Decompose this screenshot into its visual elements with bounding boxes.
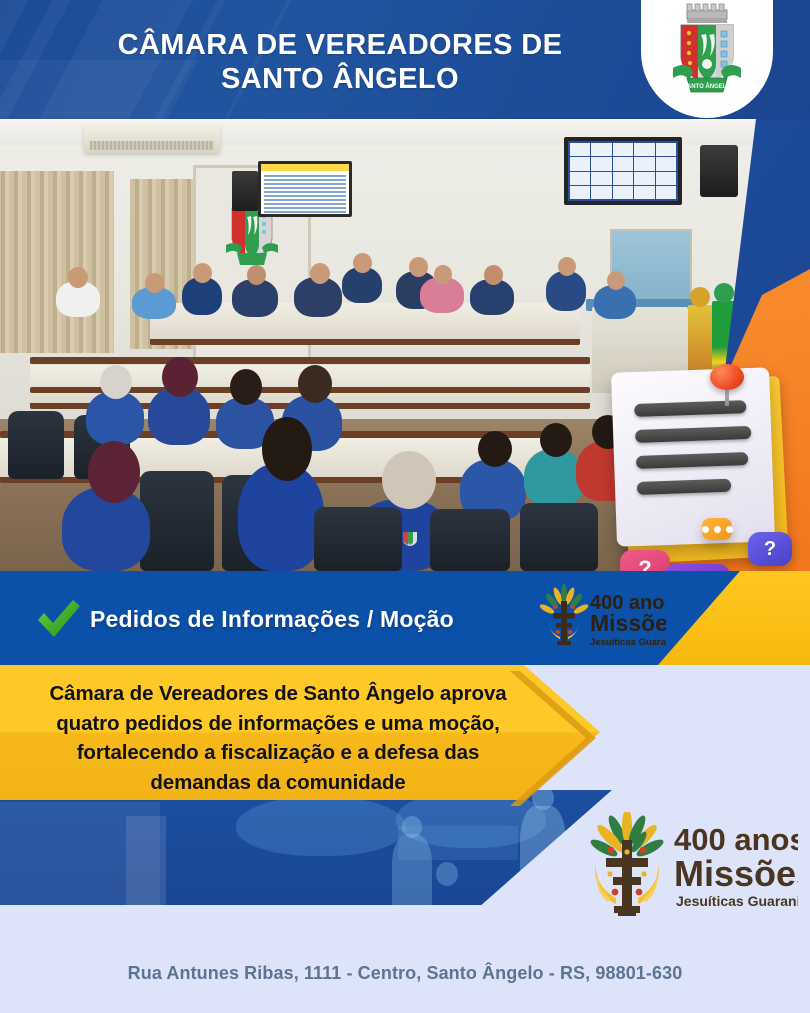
air-conditioner-icon (84, 125, 220, 153)
page-title-line-1: CÂMARA DE VEREADORES DE (60, 28, 620, 62)
footer-address: Rua Antunes Ribas, 1111 - Centro, Santo … (0, 963, 810, 984)
poster-footer (0, 905, 810, 1013)
missoes-line3: Jesuíticas Guaranis (590, 637, 666, 648)
headline-line-4: demandas da comunidade (22, 768, 534, 798)
page-title-line-2: SANTO ÂNGELO (60, 62, 620, 96)
pinned-note-illustration: ? ? ? (606, 366, 810, 596)
ribbon-label: Pedidos de Informações / Moção (90, 606, 454, 633)
missoes-logo-small: 400 anos Missões Jesuíticas Guaranis (516, 583, 666, 655)
speaker-icon (232, 171, 258, 211)
poster-canvas: CÂMARA DE VEREADORES DE SANTO ÂNGELO (0, 0, 810, 1013)
speaker-icon (700, 145, 738, 197)
page-title: CÂMARA DE VEREADORES DE SANTO ÂNGELO (60, 28, 620, 96)
santo-angelo-coat-of-arms-icon: SANTO ÂNGELO (661, 2, 753, 102)
missoes-large-line2: Missões (674, 853, 798, 894)
red-pushpin-icon (710, 364, 746, 406)
missoes-line2: Missões (590, 610, 666, 636)
headline-arrow-banner: Câmara de Vereadores de Santo Ângelo apr… (0, 665, 600, 800)
presentation-screen-right (564, 137, 682, 205)
missoes-large-line3: Jesuíticas Guaranis (676, 893, 798, 909)
presentation-screen-left (258, 161, 352, 217)
missoes-logo-large: 400 anos Missões Jesuíticas Guaranis (566, 812, 798, 916)
speech-bubble-blue-icon: ? (748, 532, 792, 566)
headline-text: Câmara de Vereadores de Santo Ângelo apr… (22, 679, 534, 798)
headline-line-2: quatro pedidos de informações e uma moçã… (22, 709, 534, 739)
headline-line-3: fortalecendo a fiscalização e a defesa d… (22, 738, 534, 768)
green-check-icon (34, 596, 82, 642)
speech-bubble-orange-icon (702, 518, 732, 540)
missoes-large-line1: 400 anos (674, 822, 798, 857)
headline-line-1: Câmara de Vereadores de Santo Ângelo apr… (22, 679, 534, 709)
note-paper (611, 367, 775, 546)
svg-text:SANTO ÂNGELO: SANTO ÂNGELO (683, 83, 732, 90)
